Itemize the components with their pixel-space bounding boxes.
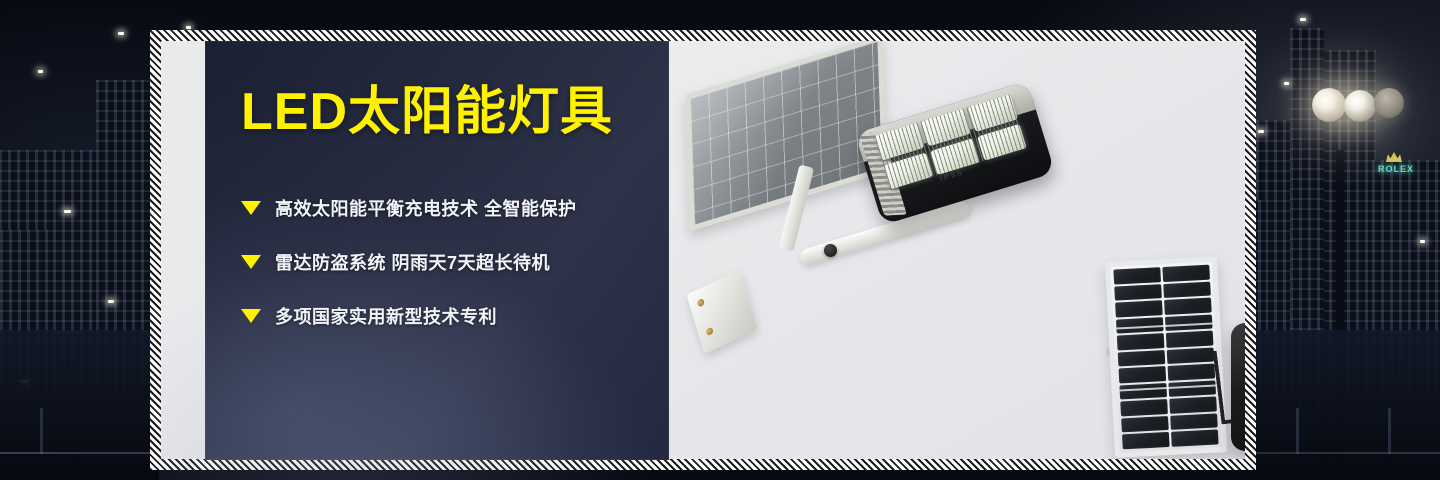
- pv-cell: [1168, 380, 1216, 397]
- list-item: 雷达防盗系统 阴雨天7天超长待机: [241, 248, 661, 276]
- pv-cell: [1118, 350, 1166, 367]
- light-spark: [1300, 18, 1306, 21]
- mount-bolt-icon: [705, 327, 713, 337]
- neon-sign-text: ROLEX: [1378, 164, 1414, 174]
- light-spark: [186, 26, 191, 29]
- frame-inner-card: LED太阳能灯具 高效太阳能平衡充电技术 全智能保护 雷达防盗系统 阴雨天7天超…: [161, 41, 1245, 459]
- triangle-down-icon: [241, 201, 261, 215]
- led-module: [977, 123, 1027, 160]
- triangle-down-icon: [241, 309, 261, 323]
- light-spark: [64, 210, 71, 213]
- pv-cell: [1164, 298, 1212, 315]
- list-item: 高效太阳能平衡充电技术 全智能保护: [241, 194, 661, 222]
- pv-cell: [1167, 364, 1215, 381]
- pv-cell: [1169, 397, 1217, 414]
- product-solar-street-light: IP65: [677, 53, 1047, 343]
- light-spark: [38, 70, 43, 73]
- feature-text: 雷达防盗系统 阴雨天7天超长待机: [275, 249, 550, 275]
- feature-text: 高效太阳能平衡充电技术 全智能保护: [275, 195, 577, 221]
- pv-cell: [1162, 265, 1210, 282]
- mount-bolt-icon: [697, 298, 705, 308]
- triangle-down-icon: [241, 255, 261, 269]
- pv-cell: [1117, 333, 1165, 350]
- product-stage: IP65: [669, 41, 1245, 459]
- pv-cell: [1166, 331, 1214, 348]
- pv-cell: [1121, 416, 1169, 433]
- pv-cell: [1120, 399, 1168, 416]
- light-spark: [108, 300, 114, 303]
- pv-cell: [1167, 347, 1215, 364]
- background-lamp-globe: [1312, 88, 1346, 122]
- street-light-wall-mount: [686, 270, 757, 354]
- product-flood-light: Solar light 100W IP67: [1231, 323, 1245, 451]
- page-title: LED太阳能灯具: [241, 86, 613, 138]
- pv-cell: [1171, 430, 1219, 447]
- feature-list: 高效太阳能平衡充电技术 全智能保护 雷达防盗系统 阴雨天7天超长待机 多项国家实…: [241, 194, 661, 356]
- hatched-frame: LED太阳能灯具 高效太阳能平衡充电技术 全智能保护 雷达防盗系统 阴雨天7天超…: [150, 30, 1256, 470]
- background-lamp-globe: [1374, 88, 1404, 118]
- solar-panel-frame: [1105, 256, 1227, 458]
- pv-cell: [1115, 300, 1163, 317]
- light-spark: [1420, 240, 1425, 243]
- flood-light-housing: Solar light 100W IP67: [1231, 323, 1245, 451]
- pv-cell: [1119, 366, 1167, 383]
- light-spark: [118, 32, 124, 35]
- pv-cell: [1113, 267, 1161, 284]
- railing-post: [1388, 408, 1391, 454]
- pv-cell: [1170, 413, 1218, 430]
- light-spark: [1258, 130, 1264, 133]
- feature-text: 多项国家实用新型技术专利: [275, 303, 497, 329]
- background-lamp-globe: [1344, 90, 1376, 122]
- product-banner: ROLEX LED太阳能灯具 高效太阳能平衡充电: [0, 0, 1440, 480]
- pv-cell: [1119, 383, 1167, 400]
- railing-post: [1296, 408, 1299, 454]
- pv-cell: [1114, 284, 1162, 301]
- motion-sensor-icon: [824, 244, 837, 257]
- light-spark: [1284, 82, 1289, 85]
- list-item: 多项国家实用新型技术专利: [241, 302, 661, 330]
- pv-cell: [1163, 281, 1211, 298]
- product-solar-panel: [1092, 259, 1224, 459]
- headline-panel: LED太阳能灯具 高效太阳能平衡充电技术 全智能保护 雷达防盗系统 阴雨天7天超…: [205, 41, 669, 460]
- railing-post: [40, 408, 43, 454]
- pv-cell: [1122, 432, 1170, 449]
